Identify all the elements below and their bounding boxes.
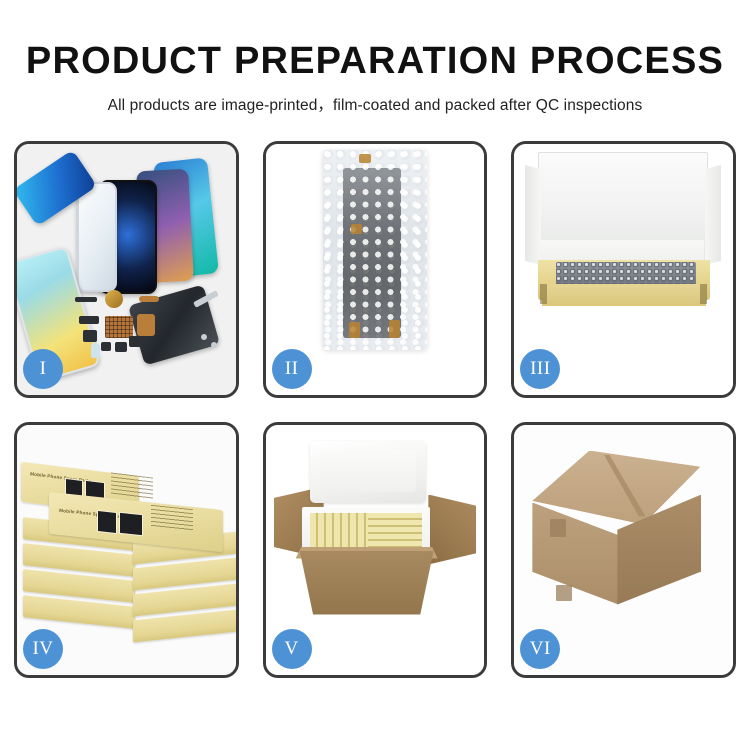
- carton-tab-lower: [556, 585, 572, 601]
- top-box-b-textlines: [151, 504, 193, 530]
- step-badge-1: I: [23, 349, 63, 389]
- process-step-panel-1[interactable]: I: [14, 141, 239, 398]
- box-tab-right: [700, 284, 707, 304]
- ic-chip: [105, 316, 133, 338]
- carton-body: [300, 551, 434, 615]
- step-badge-3: III: [520, 349, 560, 389]
- speaker-part: [75, 297, 97, 302]
- connector-part: [79, 316, 99, 324]
- small-ic-2: [101, 342, 111, 351]
- camera-module-icon: [105, 290, 123, 308]
- page-subtitle: All products are image-printed，film-coat…: [0, 82, 750, 115]
- header: PRODUCT PREPARATION PROCESS All products…: [0, 0, 750, 115]
- top-box-a-textlines: [111, 472, 153, 499]
- top-box-b-window-2: [119, 511, 143, 536]
- flex-cable-1: [139, 296, 159, 302]
- small-ic-3: [115, 342, 127, 352]
- step-badge-5: V: [272, 629, 312, 669]
- sim-tray: [91, 344, 100, 358]
- page-title: PRODUCT PREPARATION PROCESS: [0, 0, 750, 82]
- tempered-glass-protector: [77, 182, 117, 292]
- small-ic-1: [83, 330, 97, 342]
- screw-2: [211, 342, 217, 348]
- bubble-texture: [323, 150, 427, 350]
- yellow-box-front-panel: [542, 284, 706, 306]
- process-step-grid: I II: [14, 141, 736, 678]
- tape-bottom-left: [349, 322, 360, 338]
- step-badge-2: II: [272, 349, 312, 389]
- top-box-b-window-1: [97, 509, 117, 533]
- carton-tab-upper: [550, 519, 566, 537]
- screw-1: [201, 334, 207, 340]
- carton-flap-right: [428, 495, 476, 565]
- step-badge-4: IV: [23, 629, 63, 669]
- tape-bottom-right: [389, 320, 400, 338]
- product-preparation-infographic: PRODUCT PREPARATION PROCESS All products…: [0, 0, 750, 750]
- process-step-panel-6[interactable]: VI: [511, 422, 736, 679]
- tape-middle: [351, 224, 362, 234]
- foam-lid-open: [310, 441, 426, 503]
- flex-cable-2: [137, 314, 155, 336]
- tape-top: [359, 154, 371, 163]
- process-step-panel-2[interactable]: II: [263, 141, 488, 398]
- carton-left-face: [532, 503, 618, 605]
- box-tab-left: [540, 284, 547, 304]
- vibration-motor: [129, 336, 142, 347]
- process-step-panel-3[interactable]: III: [511, 141, 736, 398]
- process-step-panel-4[interactable]: Mobile Phone Spare Parts Mobile Phone Sp…: [14, 422, 239, 679]
- process-step-panel-5[interactable]: V: [263, 422, 488, 679]
- bubble-wrap-bag: [323, 150, 427, 350]
